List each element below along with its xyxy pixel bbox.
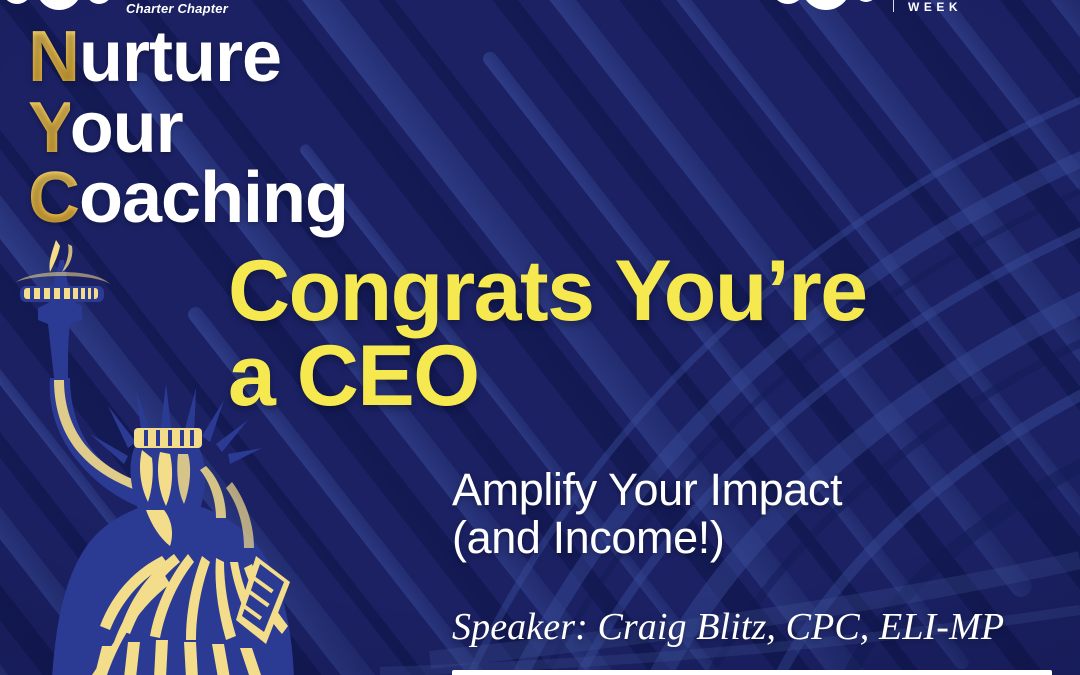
acrostic-rest-2: our: [70, 88, 183, 168]
speaker-line: Speaker: Craig Blitz, CPC, ELI-MP: [452, 605, 1072, 649]
acrostic-rest-3: oaching: [79, 158, 348, 238]
logo-divider: [893, 0, 894, 12]
acrostic-line-3: Coaching: [28, 163, 448, 234]
week-label: WEEK: [908, 0, 962, 14]
acrostic-cap-c: C: [28, 158, 79, 238]
acrostic-cap-y: Y: [28, 88, 70, 168]
page-title: Congrats You’re a CEO: [228, 249, 1038, 419]
bottom-info-panel: [452, 670, 1052, 675]
subtitle-line-1: Amplify Your Impact: [452, 466, 1052, 514]
icf-dots-logo-icon: [0, 0, 118, 18]
subtitle: Amplify Your Impact (and Income!): [452, 466, 1052, 562]
event-poster: Charter Chapter WEEK Nurture Your Coachi…: [0, 0, 1080, 675]
headline-line-2: a CEO: [228, 334, 1038, 419]
acrostic-rest-1: urture: [79, 17, 281, 97]
icf-dots-logo-icon: [771, 0, 883, 16]
nurture-your-coaching-acrostic: Nurture Your Coaching: [28, 22, 448, 234]
acrostic-cap-n: N: [28, 17, 79, 97]
acrostic-line-1: Nurture: [28, 22, 448, 93]
icf-week-logo[interactable]: WEEK: [771, 0, 962, 16]
icf-nyc-logo[interactable]: Charter Chapter: [0, 0, 250, 18]
charter-chapter-label: Charter Chapter: [126, 1, 228, 16]
headline-line-1: Congrats You’re: [228, 243, 867, 339]
subtitle-line-2: (and Income!): [452, 514, 1052, 562]
acrostic-line-2: Your: [28, 93, 448, 164]
